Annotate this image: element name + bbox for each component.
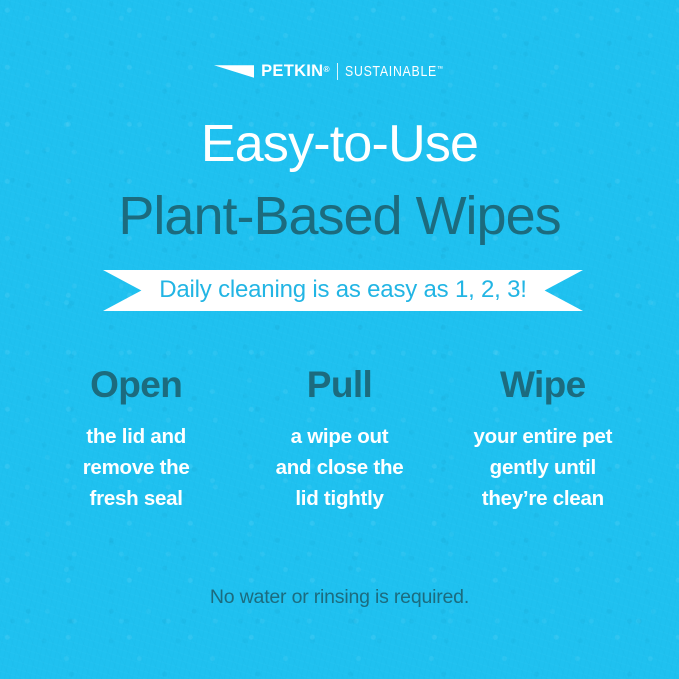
step-wipe: Wipe your entire pet gently until they’r… <box>443 366 643 514</box>
headline-line-2: Plant-Based Wipes <box>0 189 679 243</box>
headline-line-1: Easy-to-Use <box>0 118 679 170</box>
trademark-icon: ™ <box>437 64 443 73</box>
step-open: Open the lid and remove the fresh seal <box>36 366 236 514</box>
step-pull-body: a wipe out and close the lid tightly <box>239 421 439 514</box>
step-wipe-title: Wipe <box>443 366 643 403</box>
step-wipe-body: your entire pet gently until they’re cle… <box>443 421 643 514</box>
step-open-line-2: remove the <box>36 452 236 483</box>
tagline-ribbon: Daily cleaning is as easy as 1, 2, 3! <box>103 270 583 311</box>
brand-lockup: PETKIN® SUSTAINABLE™ <box>0 60 679 82</box>
step-open-line-3: fresh seal <box>36 483 236 514</box>
registered-trademark-icon: ® <box>323 64 329 74</box>
step-pull-line-2: and close the <box>239 452 439 483</box>
step-wipe-line-1: your entire pet <box>443 421 643 452</box>
step-pull-title: Pull <box>239 366 439 403</box>
brand-name-text: PETKIN <box>261 62 323 80</box>
step-wipe-line-2: gently until <box>443 452 643 483</box>
brand-sub-text: SUSTAINABLE <box>345 63 437 80</box>
petkin-wedge-icon <box>214 64 254 79</box>
footer-note: No water or rinsing is required. <box>0 588 679 608</box>
step-wipe-line-3: they’re clean <box>443 483 643 514</box>
ribbon-label: Daily cleaning is as easy as 1, 2, 3! <box>103 270 583 311</box>
steps-row: Open the lid and remove the fresh seal P… <box>36 366 643 514</box>
brand-sub-lockup: SUSTAINABLE™ <box>345 64 443 79</box>
brand-name: PETKIN® <box>261 63 330 80</box>
step-pull-line-3: lid tightly <box>239 483 439 514</box>
step-pull-line-1: a wipe out <box>239 421 439 452</box>
product-infographic: PETKIN® SUSTAINABLE™ Easy-to-Use Plant-B… <box>0 0 679 679</box>
step-open-title: Open <box>36 366 236 403</box>
step-open-body: the lid and remove the fresh seal <box>36 421 236 514</box>
brand-divider <box>337 63 339 80</box>
step-open-line-1: the lid and <box>36 421 236 452</box>
step-pull: Pull a wipe out and close the lid tightl… <box>239 366 439 514</box>
